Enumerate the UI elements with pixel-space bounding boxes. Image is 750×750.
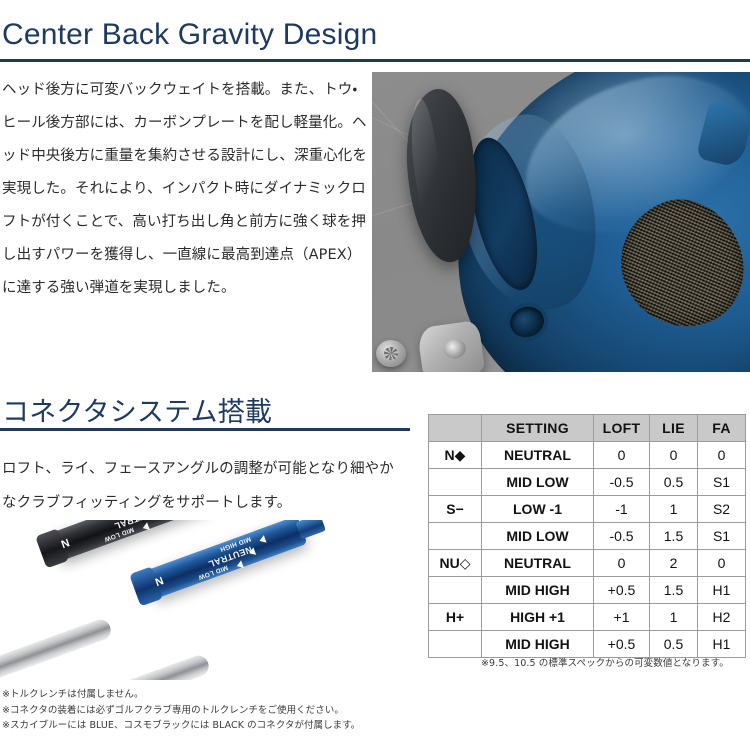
spec-cell-code: N◆ (429, 442, 482, 469)
spec-header-loft: LOFT (594, 415, 650, 442)
black-sleeve-shaft (0, 617, 114, 680)
spec-cell-fa: 0 (698, 442, 746, 469)
spec-cell-fa: 0 (698, 550, 746, 577)
spec-cell-code (429, 631, 482, 658)
spec-cell-fa: H1 (698, 577, 746, 604)
spec-cell-setting: MID HIGH (482, 631, 594, 658)
spec-table-row: H+HIGH +1+11H2 (429, 604, 746, 631)
spec-cell-code (429, 469, 482, 496)
weight-screw-part (376, 340, 406, 367)
spec-cell-fa: H2 (698, 604, 746, 631)
gravity-design-heading: Center Back Gravity Design (2, 18, 377, 52)
spec-cell-lie: 1.5 (650, 577, 698, 604)
connector-heading-divider (0, 428, 410, 431)
blue-sleeve-arrow-icon (248, 547, 256, 557)
spec-header-setting: SETTING (482, 415, 594, 442)
spec-table-row: MID LOW-0.51.5S1 (429, 523, 746, 550)
spec-header-lie: LIE (650, 415, 698, 442)
spec-table-header: SETTING LOFT LIE FA (429, 415, 746, 442)
spec-cell-lie: 1.5 (650, 523, 698, 550)
spec-table-row: MID LOW-0.50.5S1 (429, 469, 746, 496)
product-feature-page: Center Back Gravity Design ヘッド後方に可変バックウェ… (0, 0, 750, 750)
spec-cell-loft: 0 (594, 550, 650, 577)
spec-cell-setting: NEUTRAL (482, 442, 594, 469)
spec-cell-setting: MID LOW (482, 523, 594, 550)
spec-cell-fa: H1 (698, 631, 746, 658)
spec-header-code (429, 415, 482, 442)
spec-cell-fa: S1 (698, 469, 746, 496)
spec-table-row: NU◇NEUTRAL020 (429, 550, 746, 577)
spec-cell-fa: S1 (698, 523, 746, 550)
gravity-heading-divider (0, 59, 750, 62)
blue-sleeve-shaft (63, 653, 211, 680)
spec-cell-loft: -0.5 (594, 469, 650, 496)
spec-cell-lie: 0.5 (650, 631, 698, 658)
spec-header-fa: FA (698, 415, 746, 442)
black-sleeve-arrow-icon (141, 522, 149, 532)
spec-cell-setting: MID HIGH (482, 577, 594, 604)
spec-table-row: MID HIGH+0.50.5H1 (429, 631, 746, 658)
spec-cell-loft: +1 (594, 604, 650, 631)
blue-sleeve-arrow-icon (258, 535, 266, 545)
blue-sleeve-arrow-icon (235, 560, 243, 570)
footnote-line: ※トルクレンチは付属しません。 (2, 687, 442, 703)
spec-table-row: S−LOW -1-11S2 (429, 496, 746, 523)
spec-cell-lie: 1 (650, 604, 698, 631)
spec-cell-loft: +0.5 (594, 631, 650, 658)
spec-cell-setting: NEUTRAL (482, 550, 594, 577)
blue-connector-sleeve: N MID HIGH NEUTRAL MID LOW (145, 520, 307, 599)
spec-table-header-row: SETTING LOFT LIE FA (429, 415, 746, 442)
connector-system-description: ロフト、ライ、フェースアングルの調整が可能となり細やかなクラブフィッティングをサ… (2, 452, 402, 520)
spec-cell-setting: LOW -1 (482, 496, 594, 523)
spec-table-body: N◆NEUTRAL000MID LOW-0.50.5S1S−LOW -1-11S… (429, 442, 746, 658)
spec-cell-code: NU◇ (429, 550, 482, 577)
footnote-line: ※スカイブルーには BLUE、コスモブラックには BLACK のコネクタが付属し… (2, 718, 442, 734)
driver-head-product-image (372, 72, 750, 372)
spec-cell-loft: -1 (594, 496, 650, 523)
spec-cell-setting: HIGH +1 (482, 604, 594, 631)
connector-sleeves-image: N MID HIGH NEUTRAL MID LOW N MID HIGH NE… (0, 520, 410, 680)
gravity-design-description: ヘッド後方に可変バックウェイトを搭載。また、トウ・ヒール後方部には、カーボンプレ… (2, 74, 370, 305)
spec-cell-fa: S2 (698, 496, 746, 523)
spec-cell-code (429, 577, 482, 604)
spec-cell-lie: 0.5 (650, 469, 698, 496)
connector-system-heading: コネクタシステム搭載 (2, 390, 272, 429)
spec-cell-lie: 2 (650, 550, 698, 577)
variable-back-weight-part (417, 320, 486, 372)
spec-table-row: N◆NEUTRAL000 (429, 442, 746, 469)
footnotes-block: ※トルクレンチは付属しません。 ※コネクタの装着には必ずゴルフクラブ専用のトルク… (2, 687, 442, 734)
spec-cell-setting: MID LOW (482, 469, 594, 496)
blue-sleeve-tip (295, 520, 326, 539)
spec-cell-code (429, 523, 482, 550)
loft-lie-fa-setting-table: SETTING LOFT LIE FA N◆NEUTRAL000MID LOW-… (428, 414, 746, 658)
spec-cell-loft: 0 (594, 442, 650, 469)
spec-cell-code: H+ (429, 604, 482, 631)
spec-cell-lie: 1 (650, 496, 698, 523)
footnote-line: ※コネクタの装着には必ずゴルフクラブ専用のトルクレンチをご使用ください。 (2, 703, 442, 719)
spec-cell-loft: +0.5 (594, 577, 650, 604)
spec-table-row: MID HIGH+0.51.5H1 (429, 577, 746, 604)
spec-cell-loft: -0.5 (594, 523, 650, 550)
spec-cell-code: S− (429, 496, 482, 523)
spec-cell-lie: 0 (650, 442, 698, 469)
spec-table-note: ※9.5、10.5 の標準スペックからの可変数値となります。 (481, 655, 729, 669)
